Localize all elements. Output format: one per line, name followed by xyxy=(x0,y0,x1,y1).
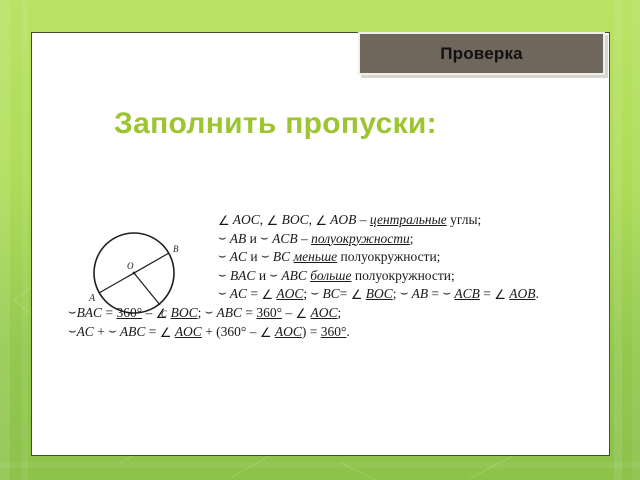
decor-stripe xyxy=(614,0,622,480)
math-token: ∠ xyxy=(160,326,172,341)
math-token: полуокружности; xyxy=(351,268,454,283)
math-token: ∠ xyxy=(156,307,168,322)
math-token: AOC xyxy=(230,212,260,227)
math-token: ⌣ xyxy=(218,249,227,264)
content-panel: Проверка Заполнить пропуски: O A B C ∠ A… xyxy=(31,32,610,456)
math-token: . xyxy=(536,286,539,301)
math-token: ; xyxy=(338,305,342,320)
slide-canvas: Проверка Заполнить пропуски: O A B C ∠ A… xyxy=(0,0,640,480)
math-token: = xyxy=(340,286,351,301)
math-token: – xyxy=(298,231,312,246)
math-token: ABC xyxy=(117,324,146,339)
math-token: ⌣ xyxy=(68,305,77,320)
math-statement-block: ∠ AOC, ∠ BOC, ∠ AOB – центральные углы;⌣… xyxy=(68,211,613,341)
math-token: ABC xyxy=(278,268,307,283)
math-token: ⌣ xyxy=(68,324,77,339)
decor-stripe xyxy=(0,462,640,468)
math-token: ⌣ xyxy=(108,324,117,339)
header-chip[interactable]: Проверка xyxy=(358,32,605,75)
math-token: – xyxy=(282,305,296,320)
math-token: ∠ xyxy=(260,326,272,341)
math-token: , xyxy=(260,212,267,227)
math-token: ⌣ xyxy=(260,231,269,246)
math-token: AOC xyxy=(311,305,338,320)
math-token: ; xyxy=(198,305,205,320)
math-token: ∠ xyxy=(351,288,363,303)
math-token: полуокружности xyxy=(311,231,410,246)
math-token: = xyxy=(428,286,442,301)
math-token: и xyxy=(247,249,261,264)
math-token: ∠ xyxy=(267,214,279,229)
math-token: AOB xyxy=(327,212,356,227)
math-token: ⌣ xyxy=(218,268,227,283)
math-line: ⌣BAC = 360° – ∠ BOC; ⌣ ABC = 360° – ∠ AO… xyxy=(68,304,613,323)
math-token: ∠ xyxy=(261,288,273,303)
math-token: ⌣ xyxy=(400,286,409,301)
math-token: = xyxy=(480,286,494,301)
math-token: ACB xyxy=(454,286,480,301)
math-token: = xyxy=(145,324,159,339)
math-token: 360° xyxy=(321,324,347,339)
math-token: ACB xyxy=(269,231,298,246)
math-token: + xyxy=(94,324,108,339)
math-token: и xyxy=(246,231,260,246)
decor-stripe xyxy=(632,0,640,480)
decor-stripe xyxy=(22,0,28,480)
page-title: Заполнить пропуски: xyxy=(114,107,437,141)
math-token: ⌣ xyxy=(261,249,270,264)
math-token: ; xyxy=(410,231,414,246)
math-token: углы; xyxy=(447,212,482,227)
math-token: больше xyxy=(310,268,351,283)
header-chip-label: Проверка xyxy=(440,44,523,64)
math-line: ⌣AC + ⌣ ABC = ∠ AOC + (360° – ∠ AOC) = 3… xyxy=(68,323,613,342)
math-token: BC xyxy=(270,249,291,264)
math-token: ∠ xyxy=(296,307,308,322)
math-token: . xyxy=(346,324,349,339)
math-token: – xyxy=(356,212,370,227)
math-line: ⌣ AC = ∠ AOC; ⌣ BC= ∠ BOC; ⌣ AB = ⌣ ACB … xyxy=(68,285,613,304)
math-token: AC xyxy=(77,324,94,339)
math-token: центральные xyxy=(370,212,447,227)
math-token: полуокружности; xyxy=(337,249,440,264)
math-token: AOC xyxy=(275,324,302,339)
math-token: BOC xyxy=(278,212,308,227)
math-line: ∠ AOC, ∠ BOC, ∠ AOB – центральные углы; xyxy=(68,211,613,230)
math-token: ⌣ xyxy=(269,268,278,283)
math-token: BAC xyxy=(227,268,256,283)
math-token: ⌣ xyxy=(218,286,227,301)
math-token: AC xyxy=(227,249,247,264)
math-token: AOB xyxy=(509,286,535,301)
math-token: 360° xyxy=(116,305,142,320)
math-token: 360° xyxy=(256,305,282,320)
math-token: AOC xyxy=(276,286,303,301)
math-token: ⌣ xyxy=(205,305,214,320)
decor-line xyxy=(340,462,448,480)
math-token: AB xyxy=(408,286,428,301)
math-token: и xyxy=(255,268,269,283)
math-token: BC xyxy=(319,286,340,301)
math-token: меньше xyxy=(294,249,338,264)
math-token: ⌣ xyxy=(442,286,451,301)
math-line: ⌣ BAC и ⌣ ABC больше полуокружности; xyxy=(68,267,613,286)
math-token: AC xyxy=(227,286,247,301)
math-token: BOC xyxy=(171,305,198,320)
math-token: ⌣ xyxy=(311,286,320,301)
math-token: ; xyxy=(303,286,310,301)
math-token: + (360° – xyxy=(202,324,260,339)
math-token: ⌣ xyxy=(218,231,227,246)
math-token: ) = xyxy=(302,324,321,339)
math-token: ∠ xyxy=(218,214,230,229)
math-token: ∠ xyxy=(315,214,327,229)
decor-stripe xyxy=(0,0,10,480)
math-token: = xyxy=(247,286,261,301)
math-token: = xyxy=(102,305,116,320)
math-token: AB xyxy=(227,231,247,246)
math-token: ; xyxy=(393,286,400,301)
math-token: – xyxy=(142,305,156,320)
math-token: BOC xyxy=(366,286,393,301)
math-token: BAC xyxy=(77,305,103,320)
math-token: ABC xyxy=(213,305,242,320)
math-token: AOC xyxy=(175,324,202,339)
math-line: ⌣ AC и ⌣ BC меньше полуокружности; xyxy=(68,248,613,267)
math-token: = xyxy=(242,305,256,320)
math-line: ⌣ AB и ⌣ ACB – полуокружности; xyxy=(68,230,613,249)
math-token: ∠ xyxy=(494,288,506,303)
